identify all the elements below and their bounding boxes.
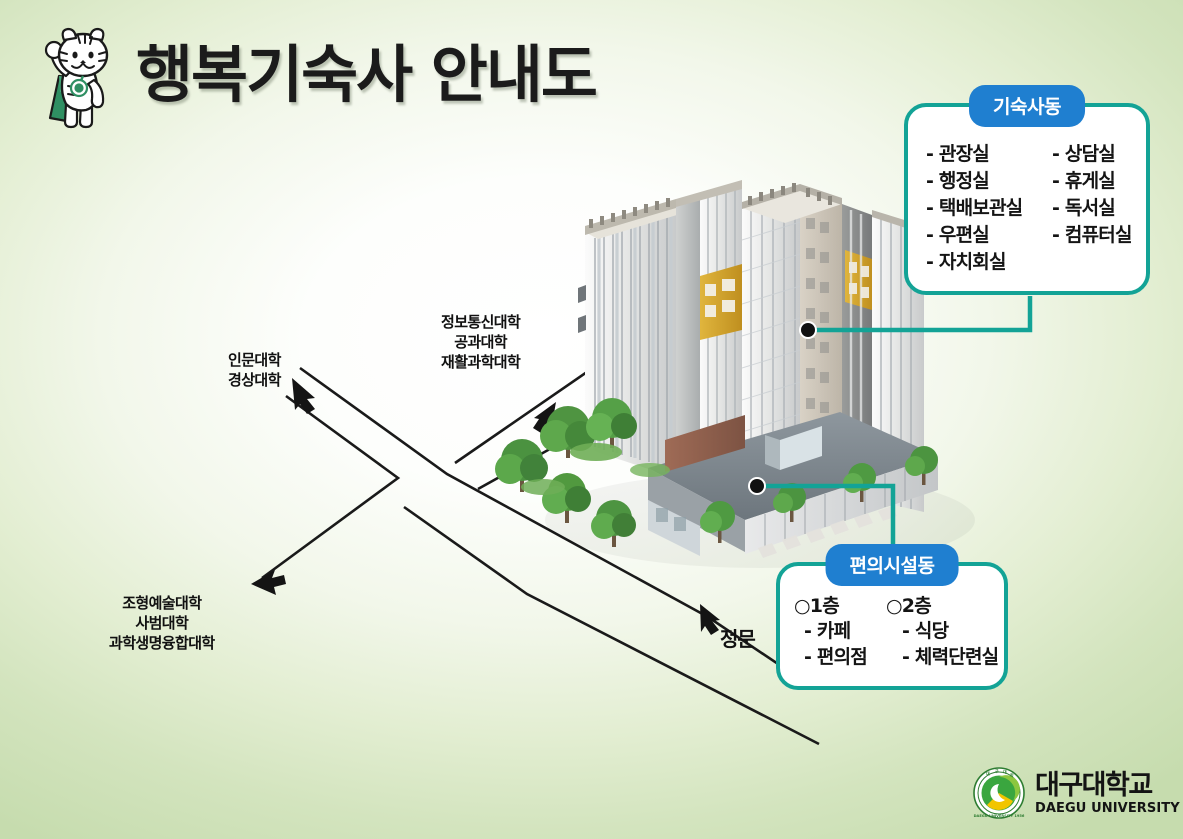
logo-english-name: DAEGU UNIVERSITY bbox=[1035, 802, 1180, 815]
facility-item: - 행정실 bbox=[926, 168, 1042, 195]
college-name: 정보통신대학 bbox=[441, 313, 520, 333]
dormitory-facility-column-left: - 관장실 - 행정실 - 택배보관실 - 우편실 - 자치회실 bbox=[926, 141, 1042, 276]
callout-dormitory-badge: 기숙사동 bbox=[969, 85, 1085, 127]
dormitory-map-poster: 행복기숙사 안내도 기숙사동 - 관장실 - 행정실 - 택배보관실 - 우편실… bbox=[0, 0, 1183, 839]
floor-item-row: - 편의점 - 체력단련실 bbox=[794, 645, 1004, 670]
map-label-ict-colleges: 정보통신대학 공과대학 재활과학대학 bbox=[441, 313, 520, 372]
poster-header: 행복기숙사 안내도 bbox=[26, 22, 596, 134]
facility-item: - 상담실 bbox=[1052, 141, 1132, 168]
map-label-arts-colleges: 조형예술대학 사범대학 과학생명융합대학 bbox=[109, 594, 215, 653]
facility-item: - 관장실 bbox=[926, 141, 1042, 168]
facility-item: - 자치회실 bbox=[926, 249, 1042, 276]
facility-item: - 독서실 bbox=[1052, 195, 1132, 222]
facility-item: - 카페 bbox=[794, 619, 896, 644]
college-name: 과학생명융합대학 bbox=[109, 634, 215, 654]
callout-convenience-badge: 편의시설동 bbox=[826, 544, 959, 586]
svg-text:대: 대 bbox=[1003, 769, 1007, 775]
svg-text:학: 학 bbox=[1010, 772, 1014, 778]
svg-text:DAEGU UNIVERSITY 1956: DAEGU UNIVERSITY 1956 bbox=[974, 814, 1025, 818]
floor-item-row: - 카페 - 식당 bbox=[794, 619, 1004, 644]
svg-text:구: 구 bbox=[995, 768, 999, 774]
dormitory-building-illustration bbox=[495, 180, 975, 568]
college-name: 공과대학 bbox=[441, 333, 520, 353]
map-label-humanities-colleges: 인문대학 경상대학 bbox=[228, 351, 281, 391]
map-label-main-gate: 정문 bbox=[720, 626, 755, 652]
daegu-university-emblem-icon: 대 구 대 학 DAEGU UNIVERSITY 1956 bbox=[972, 766, 1026, 820]
svg-text:대: 대 bbox=[986, 770, 990, 776]
facility-item: - 택배보관실 bbox=[926, 195, 1042, 222]
facility-item: - 체력단련실 bbox=[896, 645, 998, 670]
facility-item: - 휴게실 bbox=[1052, 168, 1132, 195]
college-name: 조형예술대학 bbox=[109, 594, 215, 614]
arrow-northwest bbox=[292, 378, 315, 414]
callout-dormitory: 기숙사동 - 관장실 - 행정실 - 택배보관실 - 우편실 - 자치회실 - … bbox=[904, 103, 1150, 295]
floor-heading-row: ○1층 ○2층 bbox=[794, 594, 1004, 619]
college-name: 경상대학 bbox=[228, 371, 281, 391]
university-logo: 대 구 대 학 DAEGU UNIVERSITY 1956 대구대학교 DAEG… bbox=[972, 766, 1180, 820]
white-tiger-mascot-icon bbox=[26, 22, 122, 134]
facility-item: - 컴퓨터실 bbox=[1052, 222, 1132, 249]
floor-heading: ○2층 bbox=[886, 594, 931, 619]
marker-dot-dormitory bbox=[801, 323, 815, 337]
college-name: 인문대학 bbox=[228, 351, 281, 371]
facility-item: - 편의점 bbox=[794, 645, 896, 670]
arrow-main-gate bbox=[700, 604, 720, 635]
dormitory-facility-column-right: - 상담실 - 휴게실 - 독서실 - 컴퓨터실 bbox=[1052, 141, 1132, 276]
callout-convenience: 편의시설동 ○1층 ○2층 - 카페 - 식당 - 편의점 - 체력단련실 bbox=[776, 562, 1008, 690]
logo-korean-name: 대구대학교 bbox=[1035, 772, 1180, 799]
page-title: 행복기숙사 안내도 bbox=[136, 44, 596, 112]
marker-dot-convenience bbox=[750, 479, 764, 493]
facility-item: - 식당 bbox=[896, 619, 948, 644]
floor-heading: ○1층 bbox=[794, 594, 886, 619]
facility-item: - 우편실 bbox=[926, 222, 1042, 249]
college-name: 사범대학 bbox=[109, 614, 215, 634]
college-name: 재활과학대학 bbox=[441, 353, 520, 373]
